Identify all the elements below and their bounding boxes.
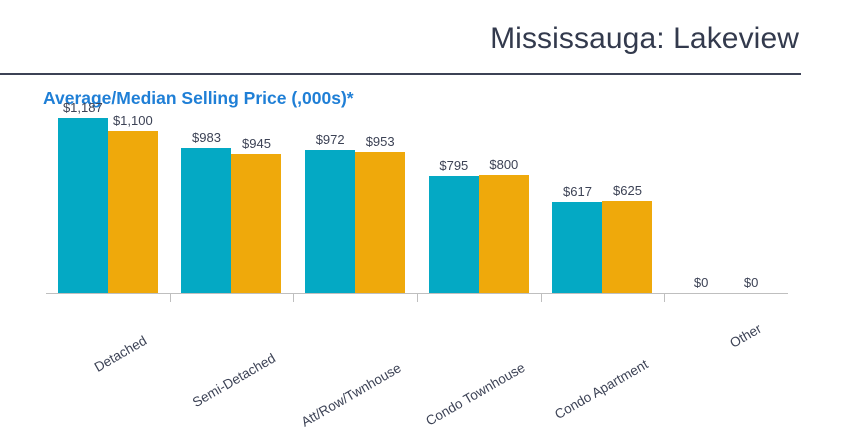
bar-pair [541, 118, 665, 293]
bar-average[interactable] [305, 150, 355, 293]
x-axis-label: Other [727, 321, 764, 351]
bar-median[interactable] [602, 201, 652, 293]
bar-value-label: $795 [439, 158, 468, 173]
bar-median[interactable] [479, 175, 529, 293]
x-axis-tick [664, 294, 665, 302]
bar-group: $983$945 [170, 118, 294, 293]
x-axis-label: Semi-Detached [189, 351, 277, 411]
title-divider [0, 73, 801, 75]
bar-value-label: $945 [242, 136, 271, 151]
x-axis-tick [541, 294, 542, 302]
bar-value-label: $1,100 [113, 113, 153, 128]
bar-group: $0$0 [664, 118, 788, 293]
bar-median[interactable] [355, 152, 405, 293]
bar-average[interactable] [552, 202, 602, 293]
bar-value-label: $617 [563, 184, 592, 199]
x-axis-label: Condo Apartment [552, 357, 651, 423]
bar-median[interactable] [231, 154, 281, 293]
bar-value-label: $625 [613, 183, 642, 198]
x-axis-label: Condo Townhouse [423, 360, 527, 429]
bar-pair [170, 118, 294, 293]
bar-average[interactable] [429, 176, 479, 293]
x-axis-label: Detached [92, 333, 150, 375]
bar-value-label: $983 [192, 130, 221, 145]
bar-value-label: $953 [366, 134, 395, 149]
bar-group: $795$800 [417, 118, 541, 293]
bar-group: $1,187$1,100 [46, 118, 170, 293]
bar-value-label: $800 [489, 157, 518, 172]
x-axis-tick [417, 294, 418, 302]
bar-pair [46, 118, 170, 293]
x-axis-tick [170, 294, 171, 302]
bar-pair [417, 118, 541, 293]
bar-group: $617$625 [541, 118, 665, 293]
page-title: Mississauga: Lakeview [490, 22, 799, 56]
bar-average[interactable] [181, 148, 231, 293]
bar-value-label: $1,187 [63, 100, 103, 115]
bar-value-label: $0 [694, 275, 708, 290]
bar-chart: $1,187$1,100$983$945$972$953$795$800$617… [0, 118, 859, 298]
slide-header: Mississauga: Lakeview [0, 0, 859, 78]
bar-value-label: $0 [744, 275, 758, 290]
x-axis-tick [293, 294, 294, 302]
bar-pair [293, 118, 417, 293]
bar-group: $972$953 [293, 118, 417, 293]
bar-median[interactable] [108, 131, 158, 293]
x-axis-label: Att/Row/Twnhouse [299, 360, 404, 429]
bar-value-label: $972 [316, 132, 345, 147]
bar-average[interactable] [58, 118, 108, 293]
bar-pair [664, 118, 788, 293]
plot-area: $1,187$1,100$983$945$972$953$795$800$617… [46, 118, 788, 293]
